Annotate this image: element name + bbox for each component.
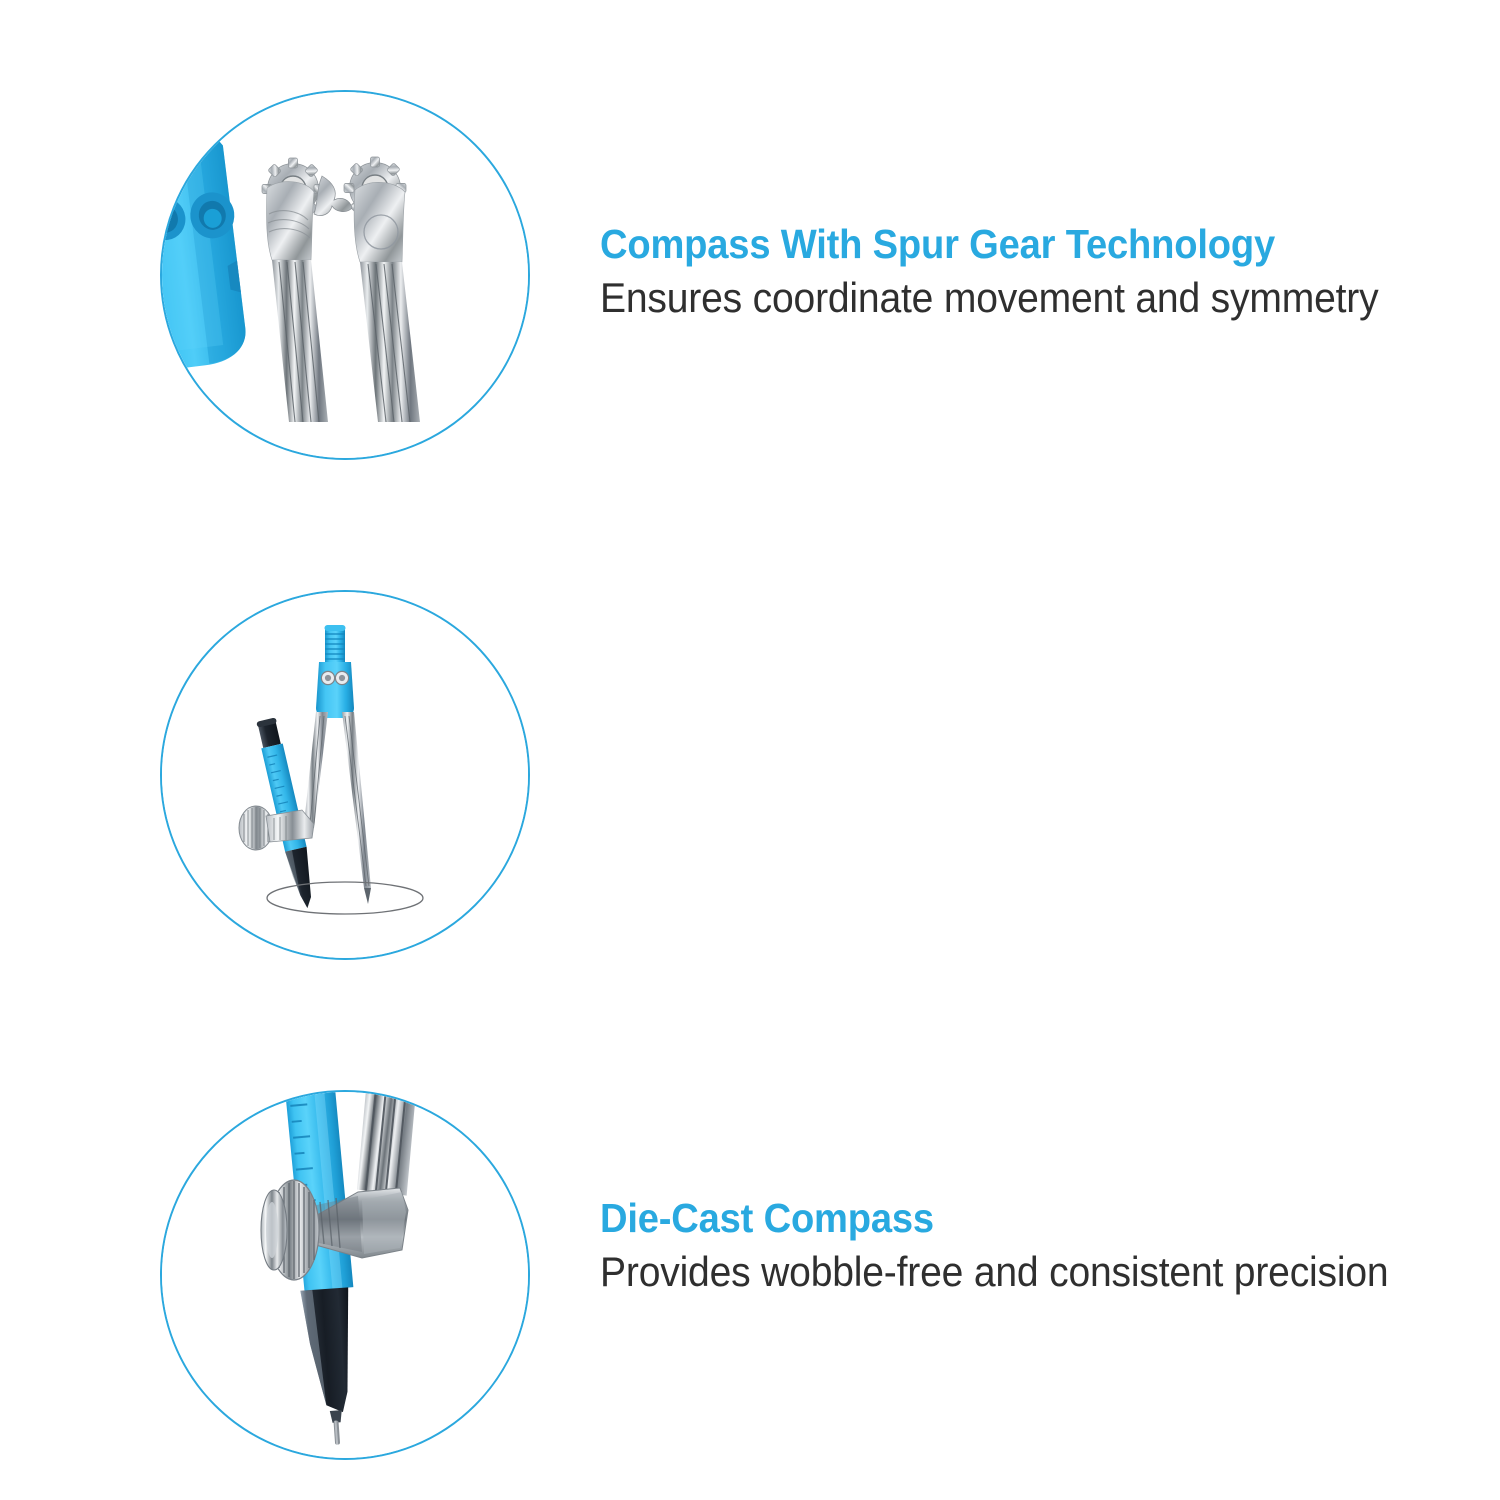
photo-circle-compass-spur-gear [160,90,530,460]
feature-row-die-cast: Die-Cast Compass Provides wobble-free an… [0,500,1500,1000]
photo-circle-die-cast-compass [160,590,530,960]
compass-knob [325,625,346,662]
feature-text-spur-gear: Compass With Spur Gear Technology Ensure… [600,222,1480,321]
knurled-adjustment-wheel [261,1180,319,1280]
photo-circle-mechanical-pencil [160,1090,530,1460]
feature-row-mechanical-pencil: Mechanical Pencil For a higher level of … [0,1000,1500,1500]
product-feature-infographic: Compass With Spur Gear Technology Ensure… [0,0,1500,1500]
compass-spur-gear-illustration [162,92,528,458]
feature-heading: Compass With Spur Gear Technology [600,222,1418,268]
die-cast-compass-illustration [162,592,528,958]
feature-subtext: Ensures coordinate movement and symmetry [600,274,1418,321]
compass-head-body [316,662,354,718]
feature-row-spur-gear: Compass With Spur Gear Technology Ensure… [0,0,1500,500]
mechanical-pencil-illustration [162,1092,528,1458]
